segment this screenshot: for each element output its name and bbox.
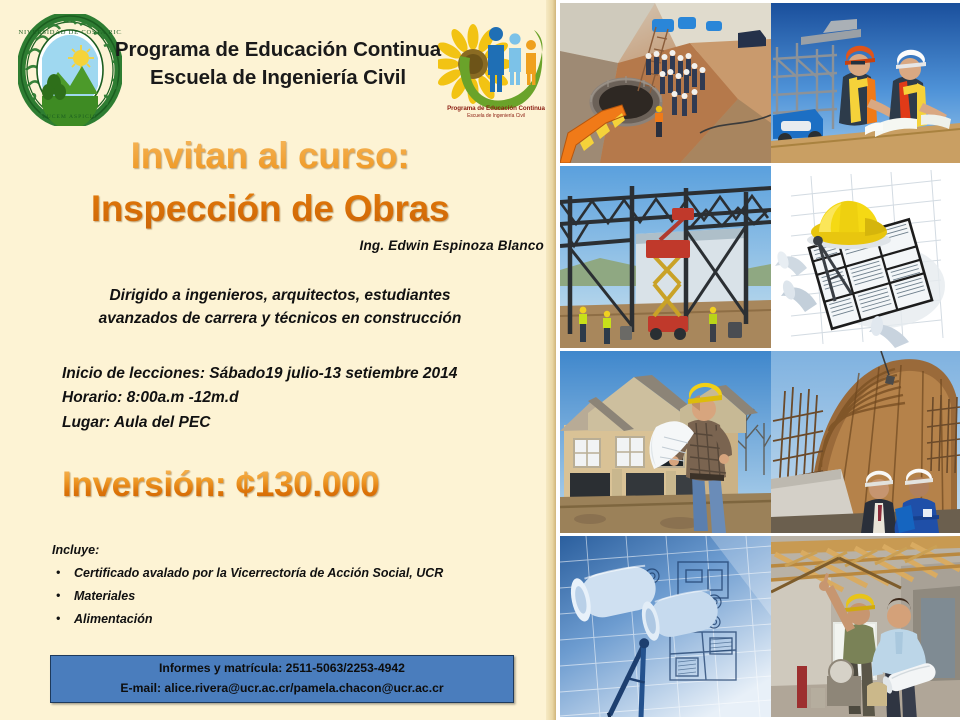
org-title-line2: Escuela de Ingeniería Civil [108,64,448,92]
includes-list: Certificado avalado por la Vicerrectoría… [52,562,532,631]
poster: UNIVERSIDAD DE COSTA RICA LUCEM ASPICIO … [0,0,960,720]
audience-line1: Dirigido a ingenieros, arquitectos, estu… [40,284,520,307]
poster-header: UNIVERSIDAD DE COSTA RICA LUCEM ASPICIO … [0,6,556,128]
organization-title: Programa de Educación Continua Escuela d… [108,36,448,93]
photo-excavation-tunnel [560,3,771,163]
svg-text:LUCEM ASPICIO: LUCEM ASPICIO [42,114,97,120]
course-title-line1: Invitan al curso: [131,135,410,176]
photo-house-inspector [560,351,771,533]
schedule-block: Inicio de lecciones: Sábado19 julio-13 s… [62,362,532,435]
price-amount: Inversión: ¢130.000 [62,465,502,505]
contact-info-box[interactable]: Informes y matrícula: 2511-5063/2253-494… [50,655,514,703]
target-audience: Dirigido a ingenieros, arquitectos, estu… [40,284,520,331]
ucr-seal-logo: UNIVERSIDAD DE COSTA RICA LUCEM ASPICIO [18,14,122,126]
text-panel: UNIVERSIDAD DE COSTA RICA LUCEM ASPICIO … [0,0,556,720]
includes-title: Incluye: [52,543,532,557]
photo-collage [556,0,960,720]
schedule-hours: Horario: 8:00a.m -12m.d [62,386,532,410]
list-item: Alimentación [52,608,532,631]
instructor-name: Ing. Edwin Espinoza Blanco [0,238,544,253]
svg-text:UNIVERSIDAD DE COSTA RICA: UNIVERSIDAD DE COSTA RICA [18,29,122,36]
pec-caption-line2: Escuela de Ingeniería Civil [434,113,558,119]
photo-blue-blueprints [560,536,771,717]
photo-roof-framing [771,536,960,717]
pec-caption-line1: Programa de Educación Continua [434,105,558,112]
includes-block: Incluye: Certificado avalado por la Vice… [52,543,532,631]
contact-phone-line: Informes y matrícula: 2511-5063/2253-494… [159,659,405,679]
audience-line2: avanzados de carrera y técnicos en const… [40,307,520,330]
photo-rebar-engineers [771,351,960,533]
schedule-location: Lugar: Aula del PEC [62,411,532,435]
contact-email-line: E-mail: alice.rivera@ucr.ac.cr/pamela.ch… [120,679,443,699]
photo-helmet-blueprints [771,166,960,348]
photo-workers-plans [771,3,960,163]
course-title-line2: Inspección de Obras [0,183,540,236]
list-item: Certificado avalado por la Vicerrectoría… [52,562,532,585]
course-title: Invitan al curso: Inspección de Obras [0,130,540,235]
schedule-start-date: Inicio de lecciones: Sábado19 julio-13 s… [62,362,532,386]
org-title-line1: Programa de Educación Continua [108,36,448,64]
list-item: Materiales [52,585,532,608]
photo-steel-frame [560,166,771,348]
